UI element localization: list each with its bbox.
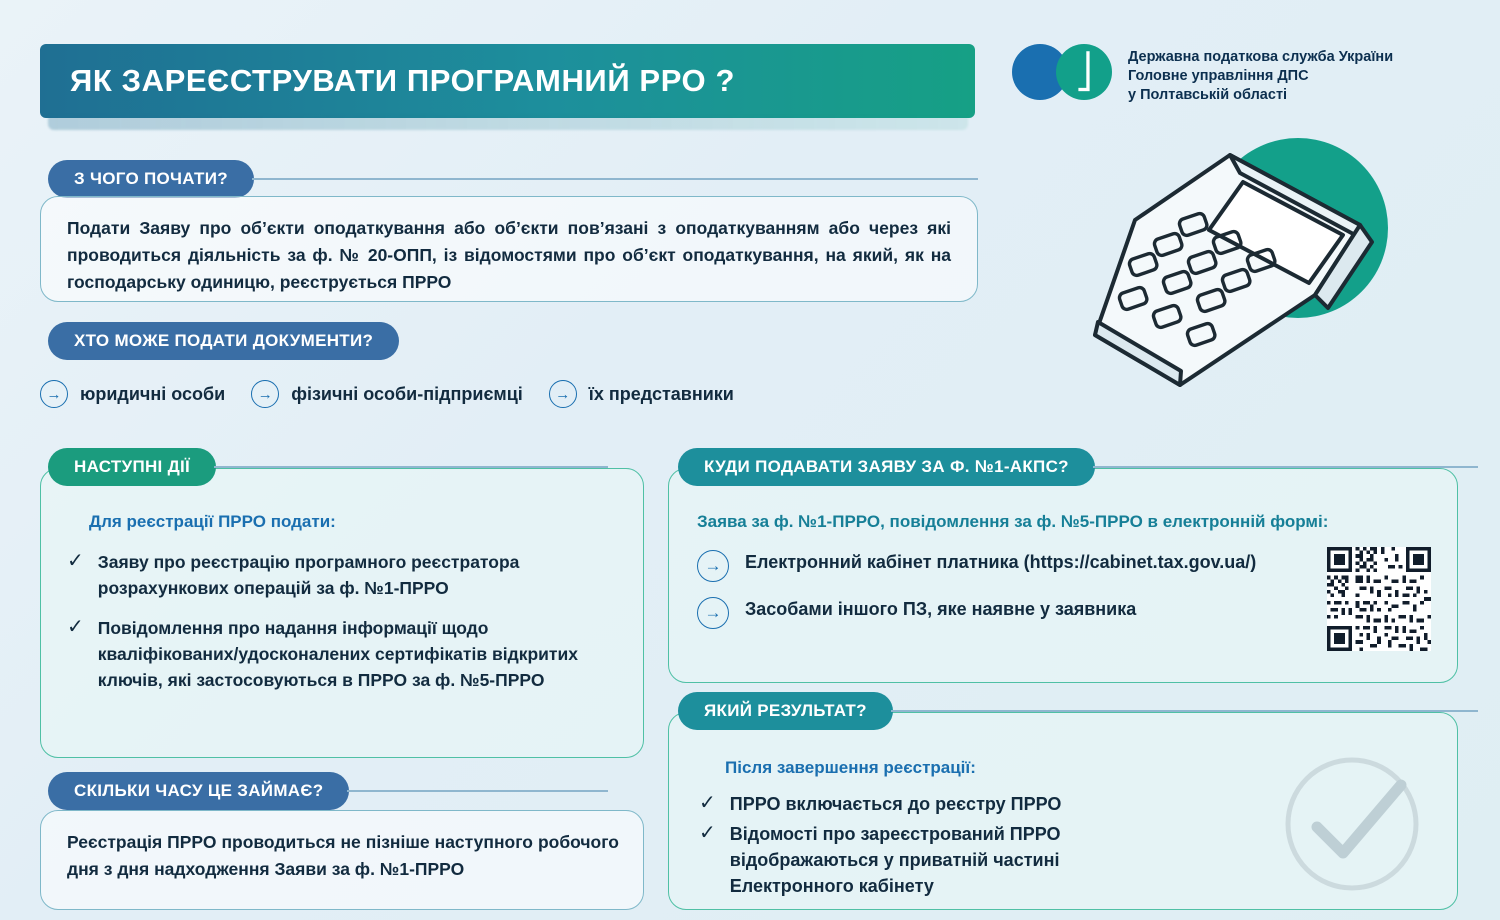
next-actions-subhead: Для реєстрації ПРРО подати: — [67, 509, 619, 535]
where-to-submit-header: КУДИ ПОДАВАТИ ЗАЯВУ ЗА Ф. №1-АКПС? — [678, 448, 1478, 486]
pos-terminal-icon — [1060, 130, 1480, 430]
divider-line — [214, 466, 608, 468]
check-icon: ✓ — [67, 615, 84, 693]
duration-header: СКІЛЬКИ ЧАСУ ЦЕ ЗАЙМАЄ? — [48, 772, 608, 810]
where-to-submit-card: Заява за ф. №1-ПРРО, повідомлення за ф. … — [668, 468, 1458, 683]
who-item-label: їх представники — [589, 384, 734, 405]
who-item-label: юридичні особи — [80, 384, 225, 405]
arrow-right-icon: → — [549, 380, 577, 408]
next-actions-item-text: Заяву про реєстрацію програмного реєстра… — [98, 549, 619, 601]
duration-text: Реєстрація ПРРО проводиться не пізніше н… — [67, 829, 619, 883]
result-item-text: Відомості про зареєстрований ПРРО відобр… — [730, 821, 1170, 899]
result-header: ЯКИЙ РЕЗУЛЬТАТ? — [678, 692, 1478, 730]
list-item: → Електронний кабінет платника (https://… — [697, 549, 1433, 582]
who-items: → юридичні особи → фізичні особи-підприє… — [40, 380, 734, 408]
who-label: ХТО МОЖЕ ПОДАТИ ДОКУМЕНТИ? — [48, 322, 399, 360]
list-item: ✓ Повідомлення про надання інформації що… — [67, 615, 619, 693]
next-actions-card: Для реєстрації ПРРО подати: ✓ Заяву про … — [40, 468, 644, 758]
next-actions-item-text: Повідомлення про надання інформації щодо… — [98, 615, 619, 693]
result-card: Після завершення реєстрації: ✓ ПРРО вклю… — [668, 712, 1458, 910]
where-label: КУДИ ПОДАВАТИ ЗАЯВУ ЗА Ф. №1-АКПС? — [678, 448, 1095, 486]
duration-card: Реєстрація ПРРО проводиться не пізніше н… — [40, 810, 644, 910]
organization-logo: ⎦ Державна податкова служба України Голо… — [1012, 44, 1393, 105]
where-item-text: Засобами іншого ПЗ, яке наявне у заявник… — [745, 596, 1136, 622]
check-icon: ✓ — [699, 791, 716, 817]
who-item-label: фізичні особи-підприємці — [291, 384, 523, 405]
list-item: → їх представники — [549, 380, 734, 408]
next-actions-header: НАСТУПНІ ДІЇ — [48, 448, 608, 486]
check-icon: ✓ — [699, 821, 716, 899]
start-card: Подати Заяву про об’єкти оподаткування а… — [40, 196, 978, 302]
check-circle-icon — [1277, 749, 1427, 899]
list-item: → юридичні особи — [40, 380, 225, 408]
check-icon: ✓ — [67, 549, 84, 601]
start-label: З ЧОГО ПОЧАТИ? — [48, 160, 254, 198]
page-title: ЯК ЗАРЕЄСТРУВАТИ ПРОГРАМНИЙ РРО ? — [40, 63, 735, 99]
result-label: ЯКИЙ РЕЗУЛЬТАТ? — [678, 692, 893, 730]
arrow-right-icon: → — [251, 380, 279, 408]
start-section-header: З ЧОГО ПОЧАТИ? — [48, 160, 978, 198]
arrow-right-icon: → — [697, 597, 729, 629]
divider-line — [891, 710, 1478, 712]
where-item-text: Електронний кабінет платника (https://ca… — [745, 549, 1256, 575]
qr-code-icon[interactable] — [1327, 547, 1431, 651]
divider-line — [347, 790, 608, 792]
title-shadow — [48, 116, 968, 130]
org-line-2: Головне управління ДПС — [1128, 67, 1393, 86]
page-title-banner: ЯК ЗАРЕЄСТРУВАТИ ПРОГРАМНИЙ РРО ? — [40, 44, 975, 118]
next-actions-label: НАСТУПНІ ДІЇ — [48, 448, 216, 486]
infographic-page: ЯК ЗАРЕЄСТРУВАТИ ПРОГРАМНИЙ РРО ? ⎦ Держ… — [0, 0, 1500, 920]
list-item: → Засобами іншого ПЗ, яке наявне у заявн… — [697, 596, 1433, 629]
organization-name: Державна податкова служба України Головн… — [1128, 44, 1393, 105]
list-item: ✓ Заяву про реєстрацію програмного реєст… — [67, 549, 619, 601]
org-line-3: у Полтавській області — [1128, 86, 1393, 105]
arrow-right-icon: → — [40, 380, 68, 408]
logo-circles: ⎦ — [1012, 44, 1120, 104]
list-item: → фізичні особи-підприємці — [251, 380, 523, 408]
trident-emblem-icon: ⎦ — [1072, 52, 1096, 92]
duration-label: СКІЛЬКИ ЧАСУ ЦЕ ЗАЙМАЄ? — [48, 772, 349, 810]
where-subhead: Заява за ф. №1-ПРРО, повідомлення за ф. … — [697, 509, 1397, 535]
result-item-text: ПРРО включається до реєстру ПРРО — [730, 791, 1062, 817]
org-line-1: Державна податкова служба України — [1128, 48, 1393, 67]
arrow-right-icon: → — [697, 550, 729, 582]
start-text: Подати Заяву про об’єкти оподаткування а… — [67, 215, 951, 296]
divider-line — [252, 178, 978, 180]
divider-line — [1093, 466, 1478, 468]
who-section-header: ХТО МОЖЕ ПОДАТИ ДОКУМЕНТИ? — [48, 322, 648, 360]
